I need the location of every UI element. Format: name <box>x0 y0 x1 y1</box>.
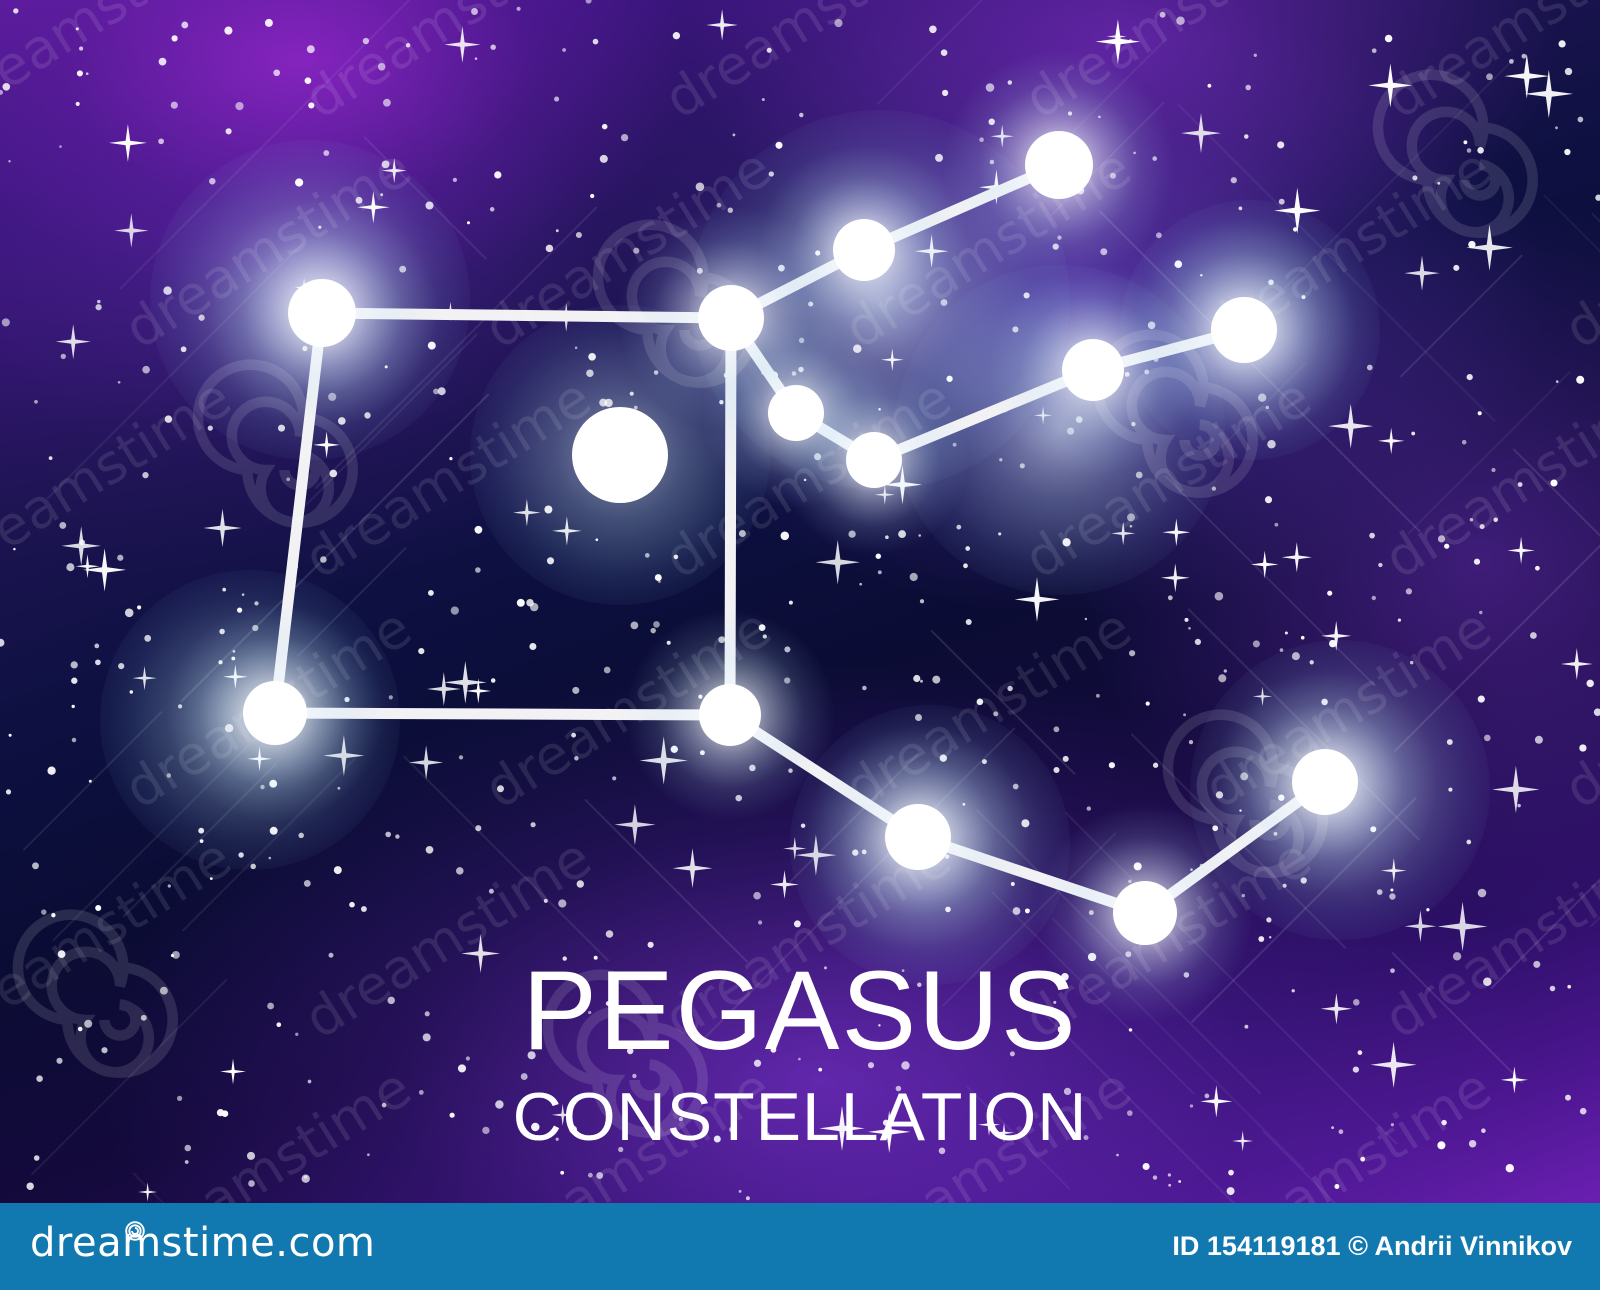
bright-field-star <box>572 407 668 503</box>
spiral-icon <box>122 1208 148 1254</box>
constellation-star-node[interactable] <box>288 279 356 347</box>
dreamstime-logo-text: dreamstime.com <box>30 1220 375 1266</box>
constellation-star-node[interactable] <box>846 432 902 488</box>
constellation-star-node[interactable] <box>699 684 761 746</box>
constellation-star-node[interactable] <box>885 804 951 870</box>
constellation-star-node[interactable] <box>1025 131 1093 199</box>
constellation-star-node[interactable] <box>1062 339 1124 401</box>
constellation-star-node[interactable] <box>1292 749 1358 815</box>
constellation-poster: dreamstimedreamstimedreamstimedreamstime… <box>0 0 1600 1290</box>
constellation-star-halos <box>166 49 1437 1021</box>
constellation-lines-and-stars <box>0 0 1600 1203</box>
constellation-star-node[interactable] <box>698 285 764 351</box>
image-credit: ID 154119181 © Andrii Vinnikov <box>1172 1231 1572 1262</box>
sky-background: dreamstimedreamstimedreamstimedreamstime… <box>0 0 1600 1203</box>
constellation-star-node[interactable] <box>1211 297 1277 363</box>
constellation-star-node[interactable] <box>243 681 307 745</box>
dreamstime-logo[interactable]: dreamstime.com <box>30 1220 375 1266</box>
constellation-star-node[interactable] <box>1113 881 1177 945</box>
dreamstime-footer-bar: dreamstime.com ID 154119181 © Andrii Vin… <box>0 1203 1600 1290</box>
constellation-star-node[interactable] <box>833 219 895 281</box>
constellation-star-node[interactable] <box>768 385 824 441</box>
